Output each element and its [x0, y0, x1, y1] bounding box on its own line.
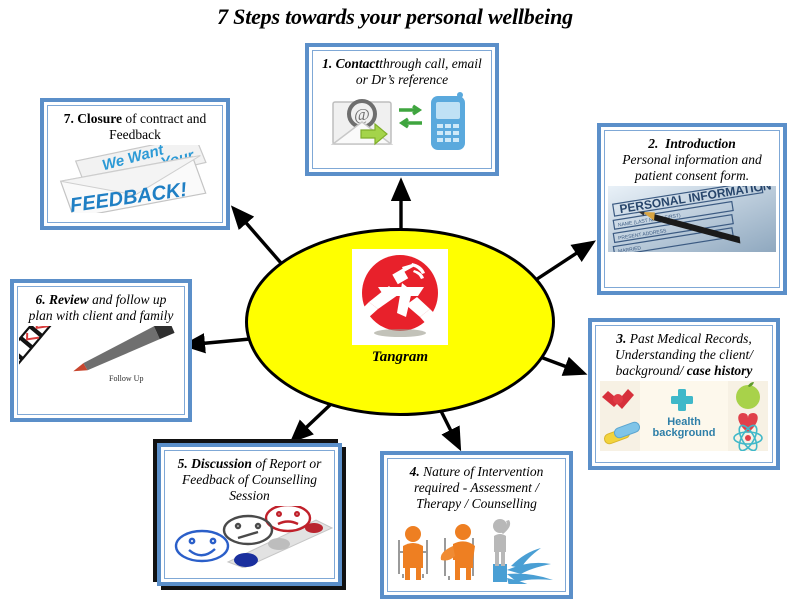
center-node-label: Tangram	[248, 349, 552, 366]
arrow-to-step-6	[186, 339, 250, 345]
step-box-1[interactable]: 1. Contactthrough call, email or Dr’s re…	[305, 43, 499, 176]
step-6-text: 6. Review and follow up plan with client…	[18, 287, 184, 326]
step-box-2[interactable]: 2. IntroductionPersonal information and …	[597, 123, 787, 295]
step-1-text: 1. Contactthrough call, email or Dr’s re…	[313, 51, 491, 90]
envelope-at-sign-and-mobile-phone-icon: @	[313, 90, 491, 168]
we-want-your-feedback-envelopes-icon: We Want Your FEEDBACK!	[48, 145, 222, 222]
page-title: 7 Steps towards your personal wellbeing	[0, 4, 790, 30]
step-box-3[interactable]: 3. Past Medical Records, Understanding t…	[588, 318, 780, 470]
health-caption-line2: background	[653, 427, 716, 439]
tangram-running-figure-logo	[352, 249, 448, 345]
step-2-text: 2. IntroductionPersonal information and …	[605, 131, 779, 186]
arrow-to-step-7	[234, 209, 281, 263]
arrow-to-step-5	[293, 405, 330, 440]
feedback-smileys-icon	[165, 506, 334, 578]
step-box-5[interactable]: 5. Discussion of Report or Feedback of C…	[157, 443, 342, 586]
arrow-to-step-4	[441, 411, 459, 447]
step-box-6[interactable]: 6. Review and follow up plan with client…	[10, 279, 192, 422]
center-node-tangram[interactable]: Tangram	[245, 228, 555, 416]
diagram-canvas: 7 Steps towards your personal wellbeing	[0, 0, 790, 600]
checklist-with-pen-icon: Follow Up	[18, 326, 184, 414]
step-3-text: 3. Past Medical Records, Understanding t…	[596, 326, 772, 381]
intervention-figures-icon	[388, 514, 565, 591]
step-box-4[interactable]: 4. Nature of Intervention required - Ass…	[380, 451, 573, 599]
personal-information-form-with-pen-image: PERSONAL INFORMATION NAME (LAST NAME FIR…	[605, 186, 779, 287]
step-5-text: 5. Discussion of Report or Feedback of C…	[165, 451, 334, 506]
follow-up-label: Follow Up	[109, 374, 143, 383]
step-7-text: 7. Closure of contract and Feedback	[48, 106, 222, 145]
health-background-collage-image: Health background	[596, 381, 772, 462]
step-4-text: 4. Nature of Intervention required - Ass…	[388, 459, 565, 514]
step-box-7[interactable]: 7. Closure of contract and Feedback We W…	[40, 98, 230, 230]
